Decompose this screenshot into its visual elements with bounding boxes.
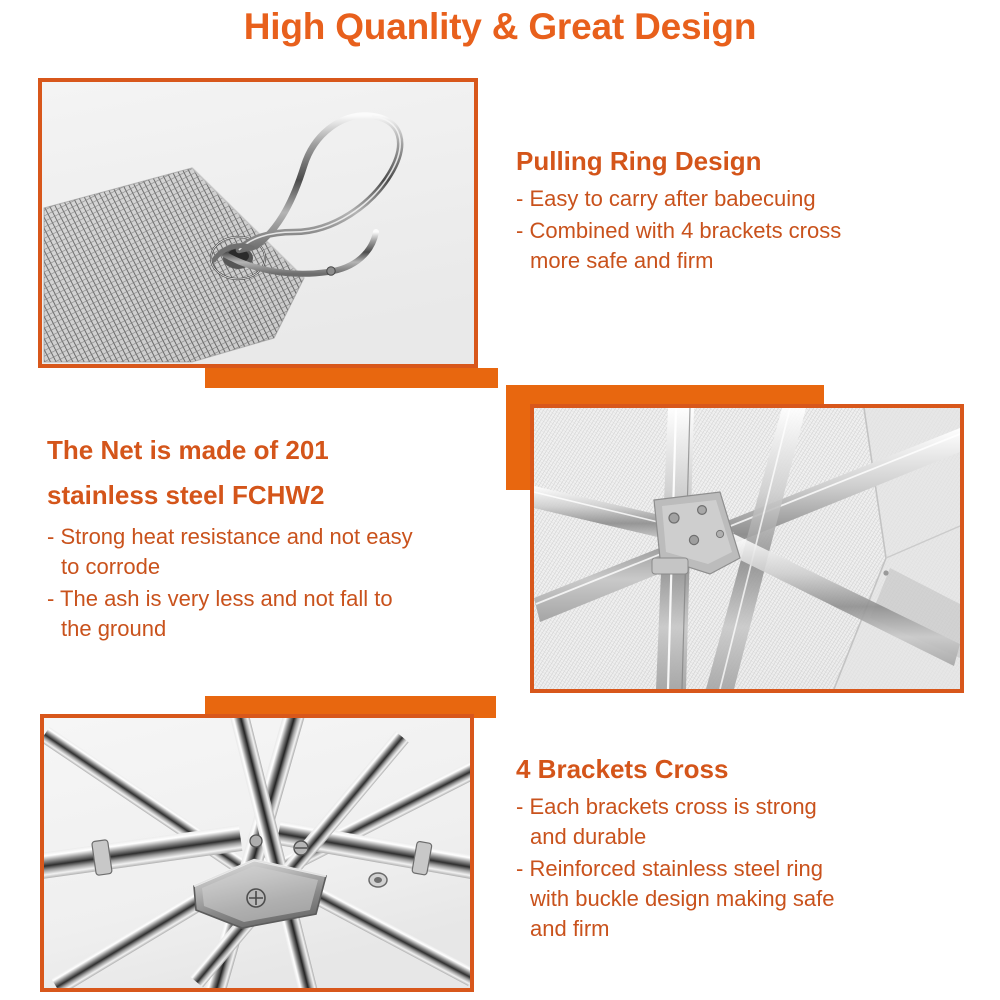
bullet-text: The ash is very less and not fall to (60, 586, 393, 611)
pulling-ring-photo-frame (38, 78, 478, 368)
page-title: High Quanlity & Great Design (0, 5, 1000, 49)
brackets-cross-heading: 4 Brackets Cross (516, 752, 946, 786)
bullet-text-cont: the ground (47, 614, 517, 644)
bullet-text-cont: to corrode (47, 552, 517, 582)
pulling-ring-bullet-2: - Combined with 4 brackets cross more sa… (516, 216, 946, 276)
bullet-text: Strong heat resistance and not easy (60, 524, 412, 549)
mesh-cross-photo-frame (530, 404, 964, 693)
bullet-text: Combined with 4 brackets cross (529, 218, 841, 243)
pulling-ring-text-block: Pulling Ring Design - Easy to carry afte… (516, 144, 946, 276)
heading-text-line2: stainless steel FCHW2 (47, 480, 324, 510)
mesh-cross-photo-image (534, 408, 960, 689)
bullet-text-cont: and durable (516, 822, 946, 852)
pulling-ring-heading: Pulling Ring Design (516, 144, 946, 178)
net-material-bullet-1: - Strong heat resistance and not easy to… (47, 522, 517, 582)
bullet-mark: - (516, 186, 523, 211)
net-material-text-block: The Net is made of 201 stainless steel F… (47, 428, 517, 644)
bracket-cross-photo-frame (40, 714, 474, 992)
heading-text-lead: The Net is made of (47, 435, 285, 465)
bullet-text-cont: more safe and firm (516, 246, 946, 276)
pulling-ring-bullet-1: - Easy to carry after babecuing (516, 184, 946, 214)
pulling-ring-photo-panel (38, 78, 498, 388)
product-infographic: High Quanlity & Great Design (0, 0, 1000, 1000)
bracket-cross-photo-panel (40, 696, 496, 992)
bullet-mark: - (516, 218, 523, 243)
heading-grade-201: 201 (285, 435, 328, 465)
mesh-cross-photo-panel (506, 385, 964, 693)
net-material-heading: The Net is made of 201 stainless steel F… (47, 428, 517, 518)
bullet-mark: - (516, 794, 523, 819)
bullet-text: Easy to carry after babecuing (529, 186, 815, 211)
bullet-text-cont: and firm (516, 914, 946, 944)
bracket-cross-photo-image (44, 718, 470, 988)
brackets-cross-text-block: 4 Brackets Cross - Each brackets cross i… (516, 752, 946, 944)
bullet-text-cont: with buckle design making safe (516, 884, 946, 914)
brackets-cross-bullet-1: - Each brackets cross is strong and dura… (516, 792, 946, 852)
bullet-mark: - (47, 586, 54, 611)
bullet-mark: - (47, 524, 54, 549)
bullet-text: Each brackets cross is strong (529, 794, 816, 819)
bullet-text: Reinforced stainless steel ring (529, 856, 822, 881)
pulling-ring-photo-image (42, 82, 474, 364)
net-material-bullet-2: - The ash is very less and not fall to t… (47, 584, 517, 644)
bullet-mark: - (516, 856, 523, 881)
brackets-cross-bullet-2: - Reinforced stainless steel ring with b… (516, 854, 946, 944)
accent-block-bottom-right (205, 368, 498, 388)
